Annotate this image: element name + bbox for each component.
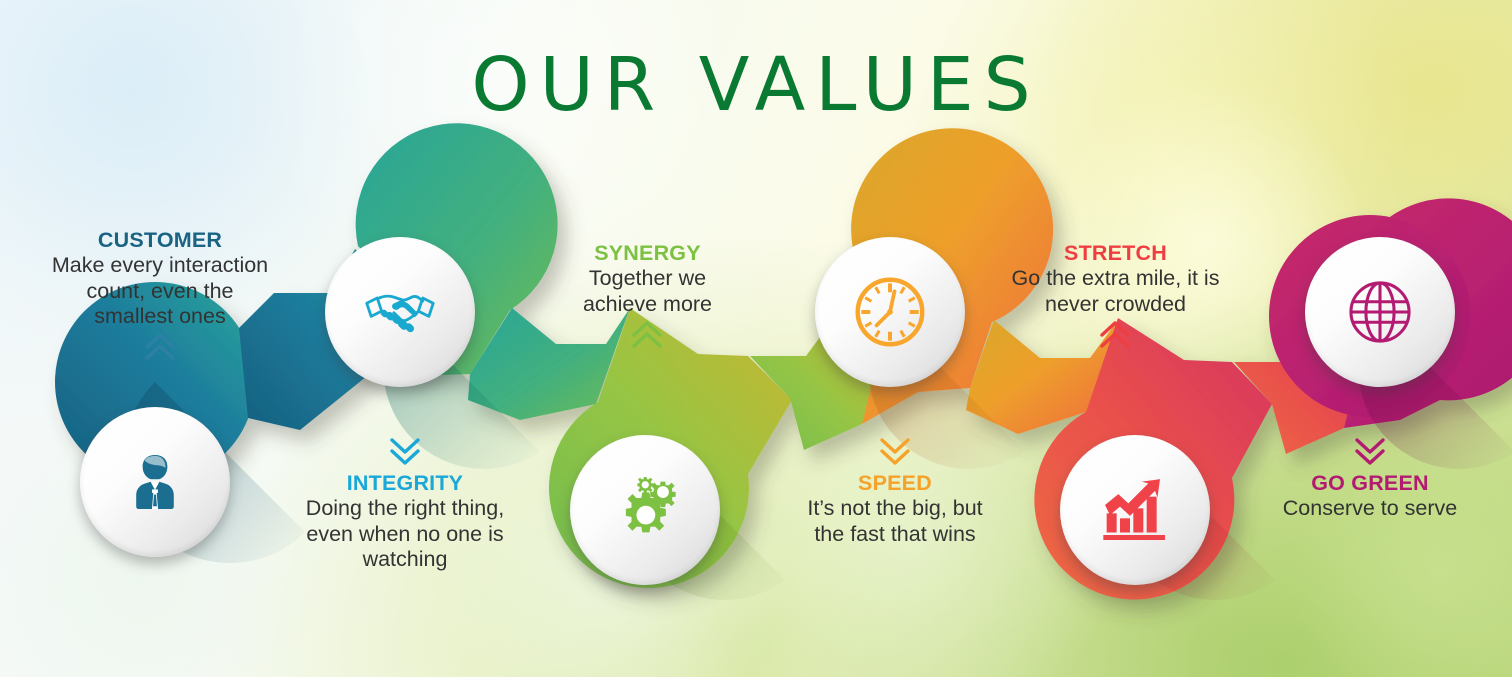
value-text-stretch: STRETCH Go the extra mile, it is never c… (978, 241, 1253, 349)
chevron-double-down-icon (260, 437, 550, 465)
value-disc (1305, 237, 1455, 387)
value-text-speed: SPEED It’s not the big, but the fast tha… (775, 437, 1015, 547)
value-heading: STRETCH (978, 241, 1253, 266)
value-body: It’s not the big, but the fast that wins (775, 496, 1015, 547)
value-text-customer: CUSTOMER Make every interaction count, e… (0, 228, 320, 361)
value-body: Doing the right thing, even when no one … (260, 496, 550, 572)
value-text-integrity: INTEGRITY Doing the right thing, even wh… (260, 437, 550, 572)
value-disc (570, 435, 720, 585)
chevron-double-up-icon (0, 333, 320, 361)
handshake-icon (358, 270, 442, 354)
value-node-gogreen[interactable] (1283, 215, 1477, 409)
value-disc (325, 237, 475, 387)
value-text-gogreen: GO GREEN Conserve to serve (1245, 437, 1495, 522)
value-heading: INTEGRITY (260, 471, 550, 496)
infographic-canvas: OUR VALUES (0, 0, 1512, 677)
value-node-customer[interactable] (58, 385, 252, 579)
businessman-icon (119, 446, 191, 518)
value-node-integrity[interactable] (303, 215, 497, 409)
chevron-double-up-icon (978, 321, 1253, 349)
globe-icon (1339, 271, 1421, 353)
value-node-synergy[interactable] (548, 413, 742, 607)
value-heading: SYNERGY (525, 241, 770, 266)
value-node-stretch[interactable] (1038, 413, 1232, 607)
chevron-double-down-icon (775, 437, 1015, 465)
value-body: Together we achieve more (525, 266, 770, 317)
chevron-double-up-icon (525, 321, 770, 349)
value-disc (815, 237, 965, 387)
clock-icon (847, 269, 933, 355)
value-disc (1060, 435, 1210, 585)
chevron-double-down-icon (1245, 437, 1495, 465)
value-body: Conserve to serve (1245, 496, 1495, 521)
value-body: Go the extra mile, it is never crowded (978, 266, 1253, 317)
value-body: Make every interaction count, even the s… (0, 253, 320, 329)
value-text-synergy: SYNERGY Together we achieve more (525, 241, 770, 349)
growth-chart-icon (1095, 470, 1175, 550)
value-disc (80, 407, 230, 557)
value-node-speed[interactable] (793, 215, 987, 409)
value-heading: CUSTOMER (0, 228, 320, 253)
gears-icon (604, 469, 686, 551)
value-heading: GO GREEN (1245, 471, 1495, 496)
value-heading: SPEED (775, 471, 1015, 496)
